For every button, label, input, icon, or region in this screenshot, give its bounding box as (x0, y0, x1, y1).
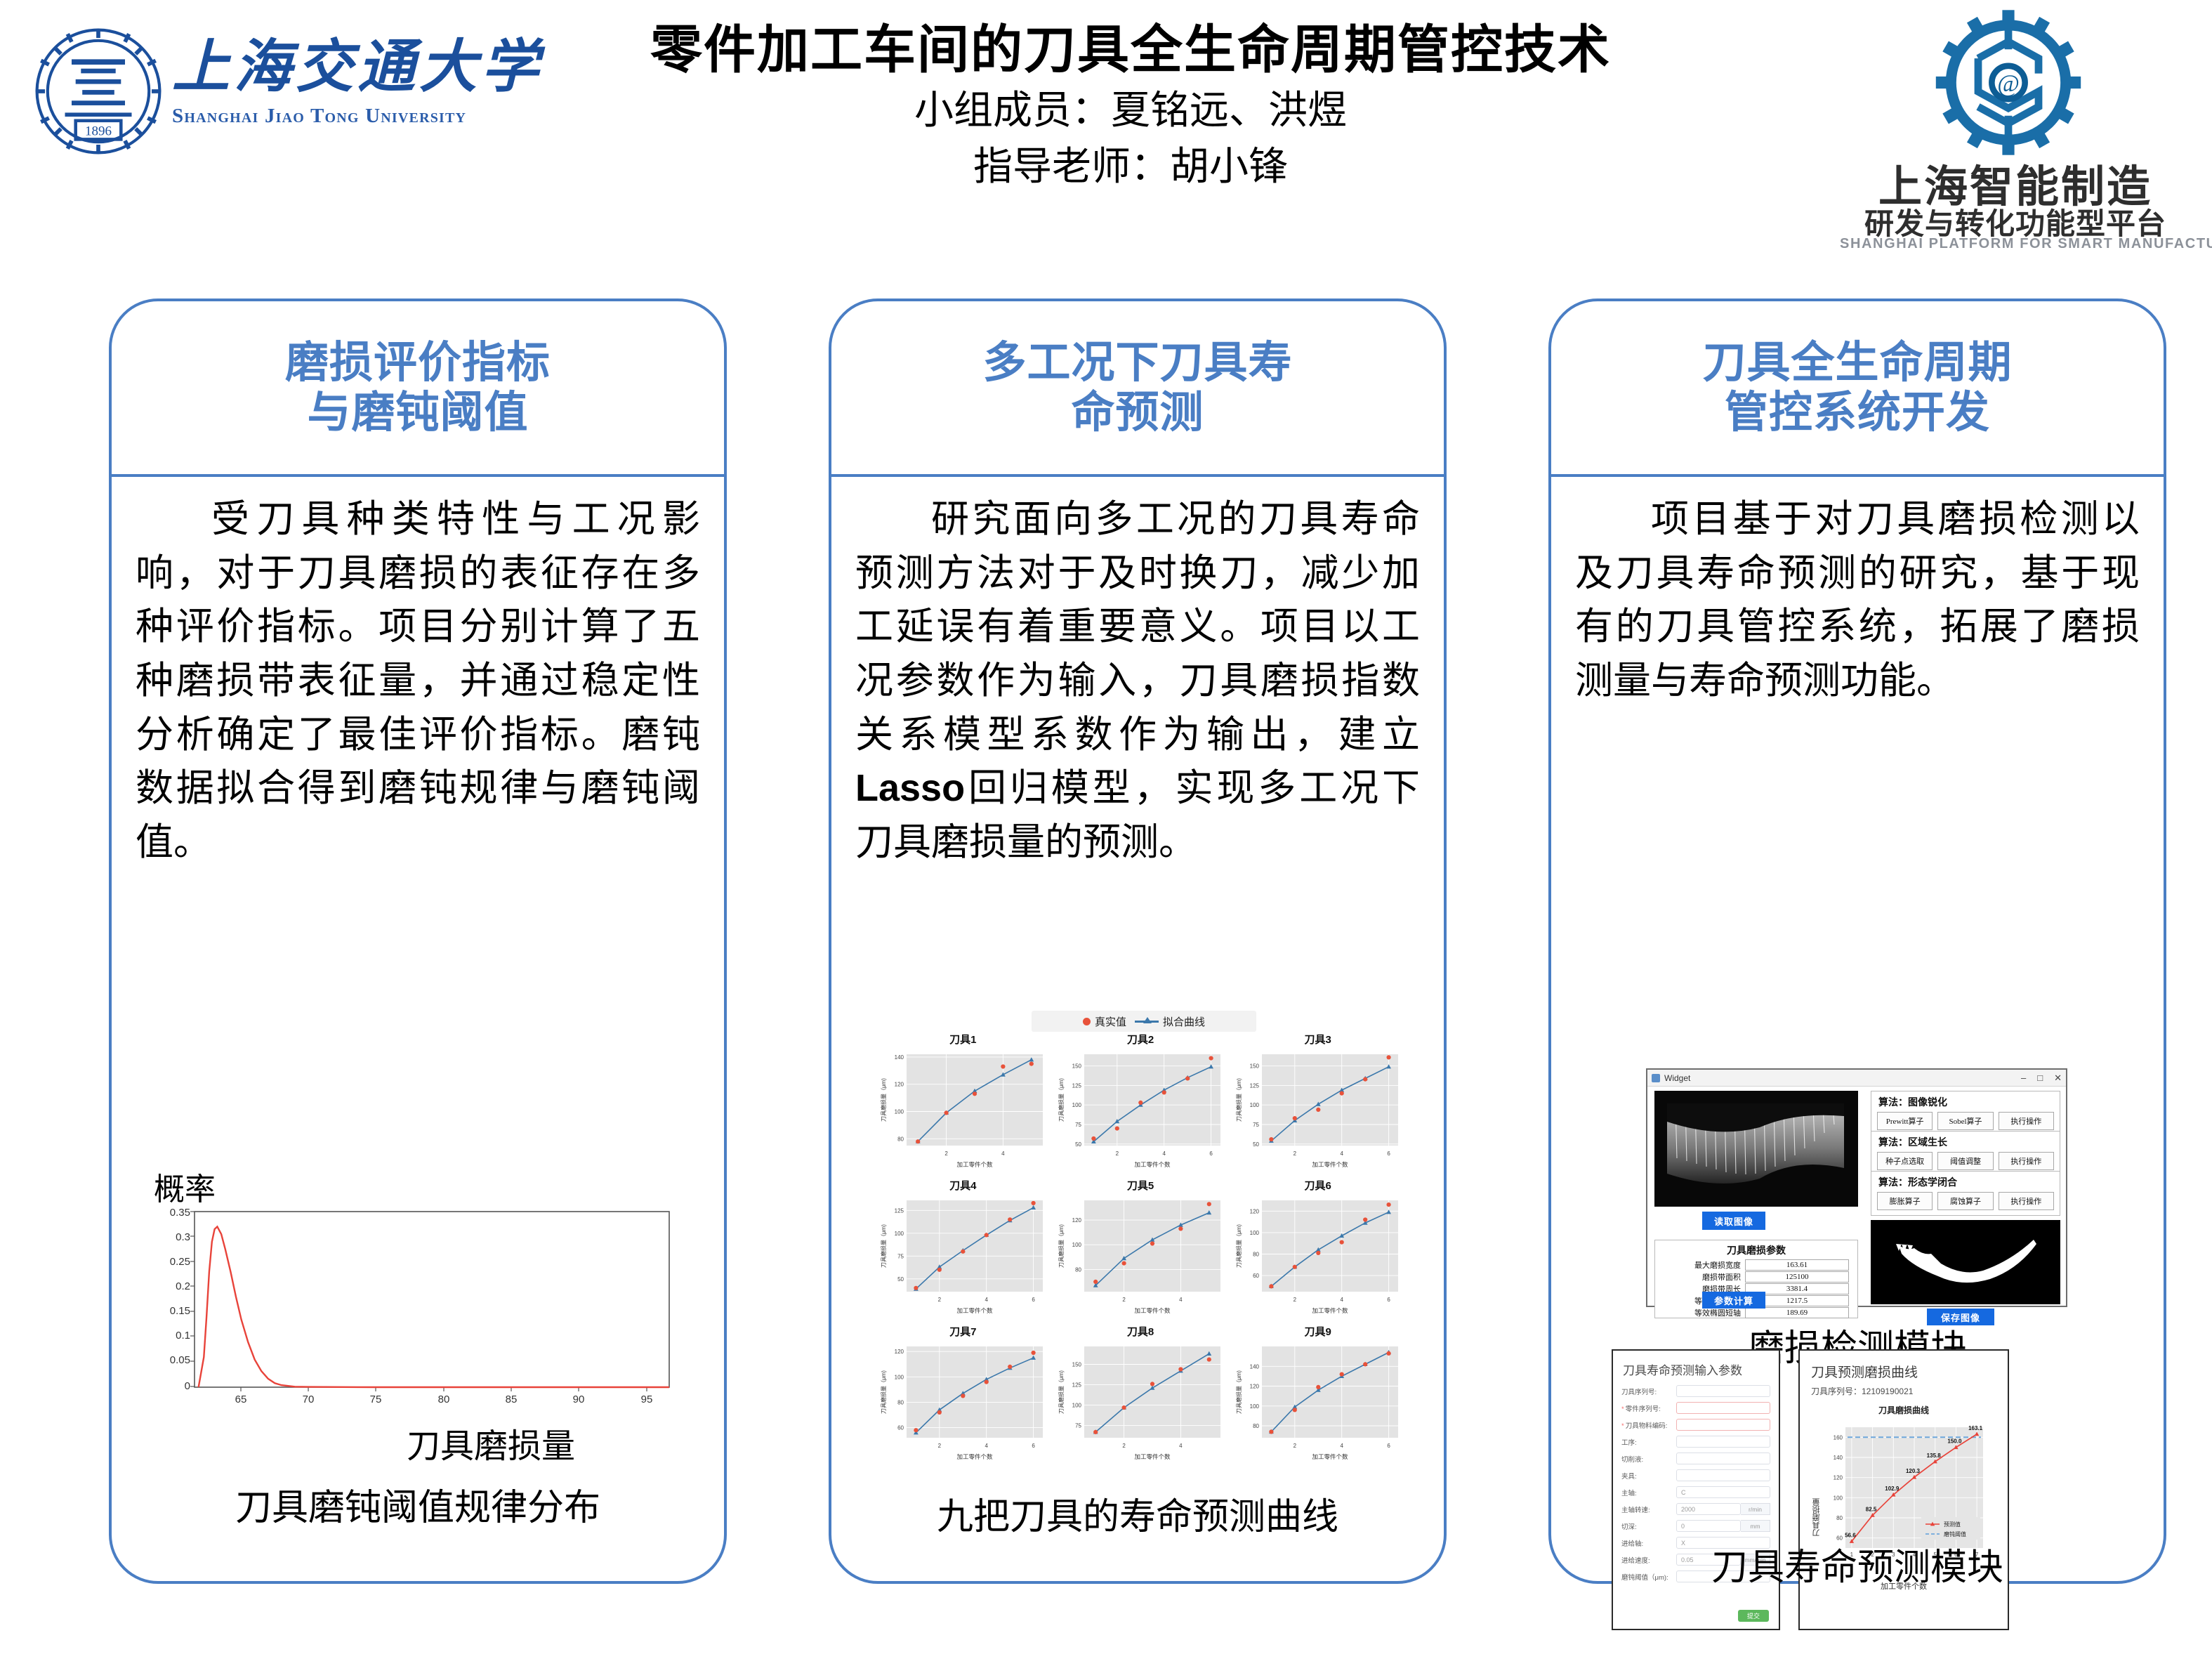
svg-text:刀具磨损量（μm): 刀具磨损量（μm) (1235, 1078, 1242, 1122)
legend-line-icon (1135, 1021, 1159, 1023)
panel-body-life-prediction: 研究面向多工况的刀具寿命预测方法对于及时换刀，减少加工延误有着重要意义。项目以工… (831, 477, 1444, 870)
maximize-icon[interactable]: □ (2037, 1073, 2043, 1084)
svg-text:120: 120 (1834, 1475, 1843, 1481)
svg-text:2: 2 (1122, 1297, 1126, 1303)
svg-text:4: 4 (1179, 1297, 1183, 1303)
chart9-legend: 真实值 拟合曲线 (1032, 1011, 1256, 1032)
window-titlebar: Widget – □ ✕ (1647, 1070, 2066, 1087)
erode-operator-button[interactable]: 腐蚀算子 (1937, 1192, 1993, 1210)
read-image-button[interactable]: 读取图像 (1702, 1212, 1765, 1230)
tool-serial-number: 刀具序列号：12109190021 (1800, 1382, 2008, 1397)
svg-text:160: 160 (1834, 1434, 1843, 1441)
panel-caption: 九把刀具的寿命预测曲线 (831, 1487, 1444, 1540)
svg-text:100: 100 (1072, 1102, 1082, 1108)
svg-text:100: 100 (895, 1374, 904, 1380)
form-row: 刀具序列号: (1613, 1385, 1779, 1402)
svg-text:加工零件个数: 加工零件个数 (957, 1307, 994, 1314)
svg-text:0.3: 0.3 (176, 1231, 190, 1243)
chart1-xlabel: 刀具磨损量 (407, 1418, 575, 1467)
svg-text:0.1: 0.1 (176, 1330, 190, 1342)
mini-chart-刀具8: 刀具87510012515024刀具磨损量（μm)加工零件个数 (1053, 1325, 1229, 1470)
param-value: 163.61 (1745, 1259, 1849, 1271)
svg-text:2: 2 (1116, 1150, 1119, 1157)
chart-nine-tool-life-curves: 刀具18010012014024刀具磨损量（μm)加工零件个数刀具2507510… (875, 1033, 1406, 1448)
field-label: 刀具序列号: (1621, 1386, 1676, 1396)
svg-text:125: 125 (1249, 1082, 1259, 1089)
form-row: 切削液: (1613, 1453, 1779, 1469)
field-label: 工序: (1621, 1437, 1676, 1447)
tool-wear-source-image (1654, 1091, 1858, 1207)
svg-text:刀具磨损量（μm): 刀具磨损量（μm) (880, 1224, 887, 1268)
svg-text:50: 50 (897, 1276, 904, 1283)
svg-text:刀具磨损量（μm): 刀具磨损量（μm) (880, 1370, 887, 1414)
svg-text:0.25: 0.25 (170, 1256, 190, 1268)
panel-life-prediction: 多工况下刀具寿 命预测 研究面向多工况的刀具寿命预测方法对于及时换刀，减少加工延… (829, 299, 1447, 1584)
field-label: 夹具: (1621, 1471, 1676, 1481)
svg-text:6: 6 (1209, 1150, 1213, 1157)
svg-text:100: 100 (1249, 1102, 1259, 1108)
mini-chart-title: 刀具2 (1053, 1033, 1229, 1047)
plot-title: 刀具磨损曲线 (1800, 1397, 2008, 1416)
svg-text:80: 80 (438, 1394, 450, 1405)
svg-text:加工零件个数: 加工零件个数 (1134, 1453, 1171, 1460)
field-input[interactable] (1676, 1402, 1770, 1414)
svg-text:150: 150 (1249, 1063, 1259, 1070)
mini-chart-title: 刀具8 (1053, 1325, 1229, 1339)
svg-text:刀具磨损量（μm): 刀具磨损量（μm) (1058, 1370, 1065, 1414)
mini-chart-title: 刀具1 (875, 1033, 1051, 1047)
param-label: 最大磨损宽度 (1664, 1259, 1741, 1271)
svg-text:刀具磨损量（μm): 刀具磨损量（μm) (880, 1078, 887, 1122)
mini-chart-刀具6: 刀具66080100120246刀具磨损量（μm)加工零件个数 (1230, 1179, 1406, 1324)
mini-chart-刀具3: 刀具35075100125150246刀具磨损量（μm)加工零件个数 (1230, 1033, 1406, 1178)
panel-header-wear-metrics: 磨损评价指标 与磨钝阈值 (112, 301, 724, 477)
svg-text:120: 120 (1072, 1217, 1082, 1224)
svg-text:120: 120 (1249, 1384, 1259, 1390)
svg-text:100: 100 (1072, 1403, 1082, 1409)
svg-text:150.0: 150.0 (1947, 1438, 1962, 1445)
execute-button[interactable]: 执行操作 (1999, 1112, 2054, 1130)
svg-text:4: 4 (985, 1297, 989, 1303)
sjtu-name-block: 上海交通大学 Shanghai Jiao Tong University (172, 39, 537, 128)
svg-text:70: 70 (303, 1394, 315, 1405)
svg-text:120: 120 (895, 1082, 904, 1088)
svg-text:90: 90 (573, 1394, 585, 1405)
param-label: 磨损带面积 (1664, 1271, 1741, 1283)
submit-button[interactable]: 提交 (1738, 1610, 1769, 1622)
legend-item-fitted: 拟合曲线 (1135, 1014, 1205, 1029)
mini-chart-title: 刀具4 (875, 1179, 1051, 1193)
svg-text:4: 4 (1002, 1150, 1006, 1157)
group-members-line: 小组成员：夏铭远、洪煜 (534, 85, 1727, 136)
svg-text:2: 2 (1293, 1443, 1296, 1449)
svg-text:60: 60 (1253, 1273, 1259, 1279)
svg-text:120: 120 (1249, 1208, 1259, 1214)
platform-name-en: SHANGHAI PLATFORM FOR SMART MANUFACTURIN… (1840, 236, 2191, 252)
mini-chart-plot: 80100120140246刀具磨损量（μm)加工零件个数 (1231, 1339, 1405, 1470)
svg-text:163.1: 163.1 (1968, 1425, 1983, 1431)
panel-header-system-development: 刀具全生命周期 管控系统开发 (1551, 301, 2164, 477)
field-input[interactable] (1676, 1385, 1770, 1397)
svg-text:2: 2 (1122, 1443, 1126, 1449)
field-input[interactable] (1676, 1419, 1770, 1431)
legend-dot-icon (1083, 1018, 1091, 1025)
param-row: 磨损带面积 125100 (1655, 1271, 1857, 1283)
param-value: 189.69 (1745, 1307, 1849, 1318)
svg-text:0.05: 0.05 (170, 1354, 190, 1366)
svg-text:102.9: 102.9 (1885, 1486, 1900, 1492)
mini-chart-title: 刀具5 (1053, 1179, 1229, 1193)
mini-chart-title: 刀具9 (1230, 1325, 1406, 1339)
svg-text:135.8: 135.8 (1927, 1453, 1942, 1459)
svg-text:6: 6 (1387, 1297, 1390, 1303)
group-buttons: 膨胀算子 腐蚀算子 执行操作 (1871, 1192, 2060, 1215)
svg-text:6: 6 (1032, 1443, 1036, 1449)
svg-text:75: 75 (1253, 1122, 1259, 1128)
panel-wear-metrics: 磨损评价指标 与磨钝阈值 受刀具种类特性与工况影响，对于刀具磨损的表征存在多种评… (109, 299, 727, 1584)
svg-text:0.2: 0.2 (176, 1280, 190, 1292)
field-suffix: r/min (1741, 1503, 1770, 1515)
field-suffix: mm (1741, 1520, 1770, 1532)
gear-at-icon: @ (1924, 7, 2093, 158)
panel-title: 刀具全生命周期 管控系统开发 (1702, 338, 2012, 438)
mini-chart-title: 刀具7 (875, 1325, 1051, 1339)
svg-text:80: 80 (1075, 1266, 1081, 1273)
svg-text:140: 140 (1249, 1363, 1259, 1370)
chart1-ylabel: 概率 (154, 1164, 216, 1209)
svg-text:2: 2 (938, 1443, 942, 1449)
svg-text:加工零件个数: 加工零件个数 (1134, 1307, 1171, 1314)
chart-bluntness-distribution: 0.35 0.3 0.25 0.2 0.15 0.1 0.05 0 (151, 1207, 682, 1418)
panel-paragraph: 项目基于对刀具磨损检测以及刀具寿命预测的研究，基于现有的刀具管控系统，拓展了磨损… (1575, 492, 2140, 708)
form-row: 切深:0mm (1613, 1520, 1779, 1537)
svg-text:刀具磨损量（μm): 刀具磨损量（μm) (1235, 1370, 1242, 1414)
sjtu-logo: 1896 上海交通大学 Shanghai Jiao Tong Universit… (32, 25, 544, 158)
svg-text:120.3: 120.3 (1906, 1468, 1921, 1474)
mini-chart-刀具9: 刀具980100120140246刀具磨损量（μm)加工零件个数 (1230, 1325, 1406, 1470)
svg-text:140: 140 (895, 1054, 904, 1061)
seed-point-button[interactable]: 种子点选取 (1877, 1152, 1933, 1170)
sjtu-seal-icon: 1896 (32, 25, 165, 158)
svg-text:60: 60 (897, 1425, 904, 1431)
svg-text:2: 2 (945, 1150, 949, 1157)
svg-text:65: 65 (235, 1394, 247, 1405)
svg-text:125: 125 (1072, 1382, 1082, 1389)
svg-text:140: 140 (1834, 1455, 1843, 1461)
field-input[interactable]: 2000 (1676, 1503, 1741, 1515)
svg-text:加工零件个数: 加工零件个数 (1312, 1161, 1348, 1168)
svg-text:加工零件个数: 加工零件个数 (957, 1161, 994, 1168)
dilate-operator-button[interactable]: 膨胀算子 (1877, 1192, 1933, 1210)
svg-text:82.5: 82.5 (1866, 1506, 1877, 1512)
legend-label: 拟合曲线 (1163, 1014, 1205, 1029)
page-title: 零件加工车间的刀具全生命周期管控技术 (534, 21, 1727, 79)
university-name-en: Shanghai Jiao Tong University (172, 105, 537, 128)
svg-text:75: 75 (370, 1394, 382, 1405)
group-title: 算法：图像锐化 (1871, 1091, 2060, 1112)
svg-text:2: 2 (938, 1297, 942, 1303)
app-icon (1652, 1074, 1660, 1082)
svg-text:0.15: 0.15 (170, 1305, 190, 1317)
field-input[interactable]: C (1676, 1486, 1770, 1498)
window-title: Widget (1664, 1073, 1690, 1083)
svg-text:2: 2 (1293, 1150, 1296, 1157)
param-label: 等效椭圆短轴 (1664, 1307, 1741, 1318)
svg-text:125: 125 (1072, 1082, 1082, 1089)
svg-text:100: 100 (895, 1231, 904, 1237)
svg-text:150: 150 (1072, 1063, 1082, 1070)
execute-button[interactable]: 执行操作 (1999, 1192, 2054, 1210)
mini-chart-plot: 5075100125246刀具磨损量（μm)加工零件个数 (876, 1193, 1050, 1324)
prewitt-operator-button[interactable]: Prewitt算子 (1877, 1112, 1933, 1130)
svg-text:150: 150 (1072, 1362, 1082, 1368)
svg-text:75: 75 (1075, 1122, 1081, 1128)
seal-year: 1896 (85, 124, 112, 139)
svg-text:95: 95 (641, 1394, 653, 1405)
segmentation-result-image (1871, 1220, 2060, 1304)
form-row: 夹具: (1613, 1469, 1779, 1486)
svg-text:加工零件个数: 加工零件个数 (1134, 1161, 1171, 1168)
svg-text:6: 6 (1032, 1297, 1036, 1303)
panel-paragraph: 研究面向多工况的刀具寿命预测方法对于及时换刀，减少加工延误有着重要意义。项目以工… (855, 492, 1420, 870)
param-row: 最大磨损宽度 163.61 (1655, 1259, 1857, 1271)
svg-text:100: 100 (1249, 1230, 1259, 1236)
svg-text:125: 125 (895, 1207, 904, 1214)
form-row: 工序: (1613, 1436, 1779, 1453)
svg-text:4: 4 (1340, 1297, 1343, 1303)
university-name-cn: 上海交通大学 (172, 39, 537, 96)
execute-button[interactable]: 执行操作 (1999, 1152, 2054, 1170)
mini-chart-刀具5: 刀具58010012024刀具磨损量（μm)加工零件个数 (1053, 1179, 1229, 1324)
svg-text:2: 2 (1293, 1297, 1296, 1303)
svg-text:80: 80 (1253, 1252, 1259, 1258)
svg-text:50: 50 (1253, 1141, 1259, 1148)
panel-body-system-development: 项目基于对刀具磨损检测以及刀具寿命预测的研究，基于现有的刀具管控系统，拓展了磨损… (1551, 477, 2164, 708)
panel-title: 磨损评价指标 与磨钝阈值 (285, 338, 551, 438)
smart-manufacturing-logo: @ 上海智能制造 研发与转化功能型平台 SHANGHAI PLATFORM FO… (1840, 7, 2191, 267)
svg-text:85: 85 (506, 1394, 518, 1405)
mini-chart-刀具4: 刀具45075100125246刀具磨损量（μm)加工零件个数 (875, 1179, 1051, 1324)
svg-text:120: 120 (895, 1349, 904, 1355)
window-body: 读取图像 刀具磨损参数 最大磨损宽度 163.61 磨损带面积 125100 磨… (1647, 1087, 2066, 1306)
svg-text:加工零件个数: 加工零件个数 (1312, 1307, 1348, 1314)
field-label: *刀具物料编码: (1621, 1420, 1676, 1430)
svg-text:0: 0 (185, 1380, 190, 1392)
mini-chart-plot: 7510012515024刀具磨损量（μm)加工零件个数 (1053, 1339, 1227, 1470)
svg-text:50: 50 (1075, 1141, 1081, 1148)
mini-chart-title: 刀具3 (1230, 1033, 1406, 1047)
form-title: 刀具寿命预测输入参数 (1613, 1351, 1779, 1385)
svg-text:4: 4 (1340, 1150, 1343, 1157)
panel-caption: 刀具磨钝阈值规律分布 (112, 1478, 724, 1530)
svg-text:预测值: 预测值 (1944, 1521, 1961, 1528)
svg-text:100: 100 (895, 1109, 904, 1115)
field-input[interactable] (1676, 1453, 1770, 1464)
svg-text:加工零件个数: 加工零件个数 (1312, 1453, 1348, 1460)
svg-text:4: 4 (985, 1443, 989, 1449)
svg-text:80: 80 (1836, 1515, 1843, 1521)
chart3-ylabel: 刀具磨损量 (1811, 1498, 1822, 1537)
svg-text:4: 4 (1179, 1443, 1183, 1449)
field-input[interactable] (1676, 1469, 1770, 1481)
svg-text:100: 100 (1249, 1403, 1259, 1410)
svg-text:80: 80 (1253, 1423, 1259, 1429)
svg-text:100: 100 (1072, 1242, 1082, 1248)
wear-detection-window: Widget – □ ✕ (1646, 1068, 2067, 1307)
svg-text:100: 100 (1834, 1495, 1843, 1501)
svg-text:刀具磨损量（μm): 刀具磨损量（μm) (1058, 1224, 1065, 1268)
svg-text:刀具磨损量（μm): 刀具磨损量（μm) (1235, 1224, 1242, 1268)
algorithm-group-morphological: 算法：形态学闭合 膨胀算子 腐蚀算子 执行操作 (1871, 1171, 2060, 1216)
field-label: 主轴: (1621, 1488, 1676, 1497)
field-label: *零件序列号: (1621, 1403, 1676, 1413)
svg-text:6: 6 (1387, 1443, 1390, 1449)
window-controls: – □ ✕ (2021, 1073, 2062, 1084)
group-title: 算法：形态学闭合 (1871, 1172, 2060, 1192)
mini-chart-plot: 8010012024刀具磨损量（μm)加工零件个数 (1053, 1193, 1227, 1324)
field-label: 切深: (1621, 1521, 1676, 1531)
advisor-line: 指导老师：胡小锋 (534, 141, 1727, 192)
minimize-icon[interactable]: – (2021, 1073, 2026, 1084)
panel-body-wear-metrics: 受刀具种类特性与工况影响，对于刀具磨损的表征存在多种评价指标。项目分别计算了五种… (112, 477, 724, 870)
mini-chart-plot: 8010012014024刀具磨损量（μm)加工零件个数 (876, 1047, 1050, 1178)
svg-text:磨钝阈值: 磨钝阈值 (1944, 1530, 1966, 1537)
close-icon[interactable]: ✕ (2054, 1073, 2062, 1084)
mini-chart-刀具2: 刀具25075100125150246刀具磨损量（μm)加工零件个数 (1053, 1033, 1229, 1178)
param-value: 125100 (1745, 1271, 1849, 1283)
form-row: *零件序列号: (1613, 1402, 1779, 1419)
form-row: 主轴转速:2000r/min (1613, 1503, 1779, 1520)
compute-params-button[interactable]: 参数计算 (1702, 1292, 1765, 1309)
field-input[interactable] (1676, 1436, 1770, 1448)
svg-text:80: 80 (897, 1399, 904, 1405)
title-block: 零件加工车间的刀具全生命周期管控技术 小组成员：夏铭远、洪煜 指导老师：胡小锋 (534, 21, 1727, 191)
poster-root: 1896 上海交通大学 Shanghai Jiao Tong Universit… (0, 0, 2212, 1659)
svg-text:4: 4 (1340, 1443, 1343, 1449)
panel-title: 多工况下刀具寿 命预测 (982, 338, 1292, 438)
mini-chart-刀具7: 刀具76080100120246刀具磨损量（μm)加工零件个数 (875, 1325, 1051, 1470)
form-row: *刀具物料编码: (1613, 1419, 1779, 1436)
svg-text:75: 75 (1075, 1423, 1081, 1429)
param-row: 等效椭圆短轴 189.69 (1655, 1307, 1857, 1319)
svg-text:0.35: 0.35 (170, 1207, 190, 1219)
algorithm-group-region-growing: 算法：区域生长 种子点选取 阈值调整 执行操作 (1871, 1131, 2060, 1176)
legend-item-actual: 真实值 (1083, 1014, 1126, 1029)
svg-text:6: 6 (1387, 1150, 1390, 1157)
svg-text:刀具磨损量（μm): 刀具磨损量（μm) (1058, 1078, 1065, 1122)
svg-text:80: 80 (897, 1136, 904, 1142)
panel-paragraph: 受刀具种类特性与工况影响，对于刀具磨损的表征存在多种评价指标。项目分别计算了五种… (136, 492, 700, 870)
form-row: 主轴:C (1613, 1486, 1779, 1503)
mini-chart-plot: 5075100125150246刀具磨损量（μm)加工零件个数 (1053, 1047, 1227, 1178)
panel-system-development: 刀具全生命周期 管控系统开发 项目基于对刀具磨损检测以及刀具寿命预测的研究，基于… (1548, 299, 2166, 1584)
mini-chart-刀具1: 刀具18010012014024刀具磨损量（μm)加工零件个数 (875, 1033, 1051, 1178)
svg-text:4: 4 (1162, 1150, 1166, 1157)
panel-caption-2: 刀具寿命预测模块 (1551, 1537, 2164, 1590)
field-label: 主轴转速: (1621, 1504, 1676, 1514)
mini-chart-title: 刀具6 (1230, 1179, 1406, 1193)
mini-chart-plot: 6080100120246刀具磨损量（μm)加工零件个数 (876, 1339, 1050, 1470)
poster-header: 1896 上海交通大学 Shanghai Jiao Tong Universit… (0, 0, 2212, 281)
sobel-operator-button[interactable]: Sobel算子 (1937, 1112, 1993, 1130)
threshold-adjust-button[interactable]: 阈值调整 (1937, 1152, 1993, 1170)
field-input[interactable]: 0 (1676, 1520, 1741, 1532)
params-title: 刀具磨损参数 (1655, 1240, 1857, 1259)
panel-header-life-prediction: 多工况下刀具寿 命预测 (831, 301, 1444, 477)
mini-chart-plot: 5075100125150246刀具磨损量（μm)加工零件个数 (1231, 1047, 1405, 1178)
legend-label: 真实值 (1095, 1014, 1126, 1029)
algorithm-group-sharpen: 算法：图像锐化 Prewitt算子 Sobel算子 执行操作 (1871, 1091, 2060, 1136)
svg-text:75: 75 (897, 1253, 904, 1259)
group-title: 算法：区域生长 (1871, 1132, 2060, 1152)
mini-chart-plot: 6080100120246刀具磨损量（μm)加工零件个数 (1231, 1193, 1405, 1324)
svg-text:@: @ (1997, 70, 2020, 97)
field-label: 切削液: (1621, 1454, 1676, 1464)
curve-card-title: 刀具预测磨损曲线 (1800, 1351, 2008, 1382)
svg-text:加工零件个数: 加工零件个数 (957, 1453, 994, 1460)
